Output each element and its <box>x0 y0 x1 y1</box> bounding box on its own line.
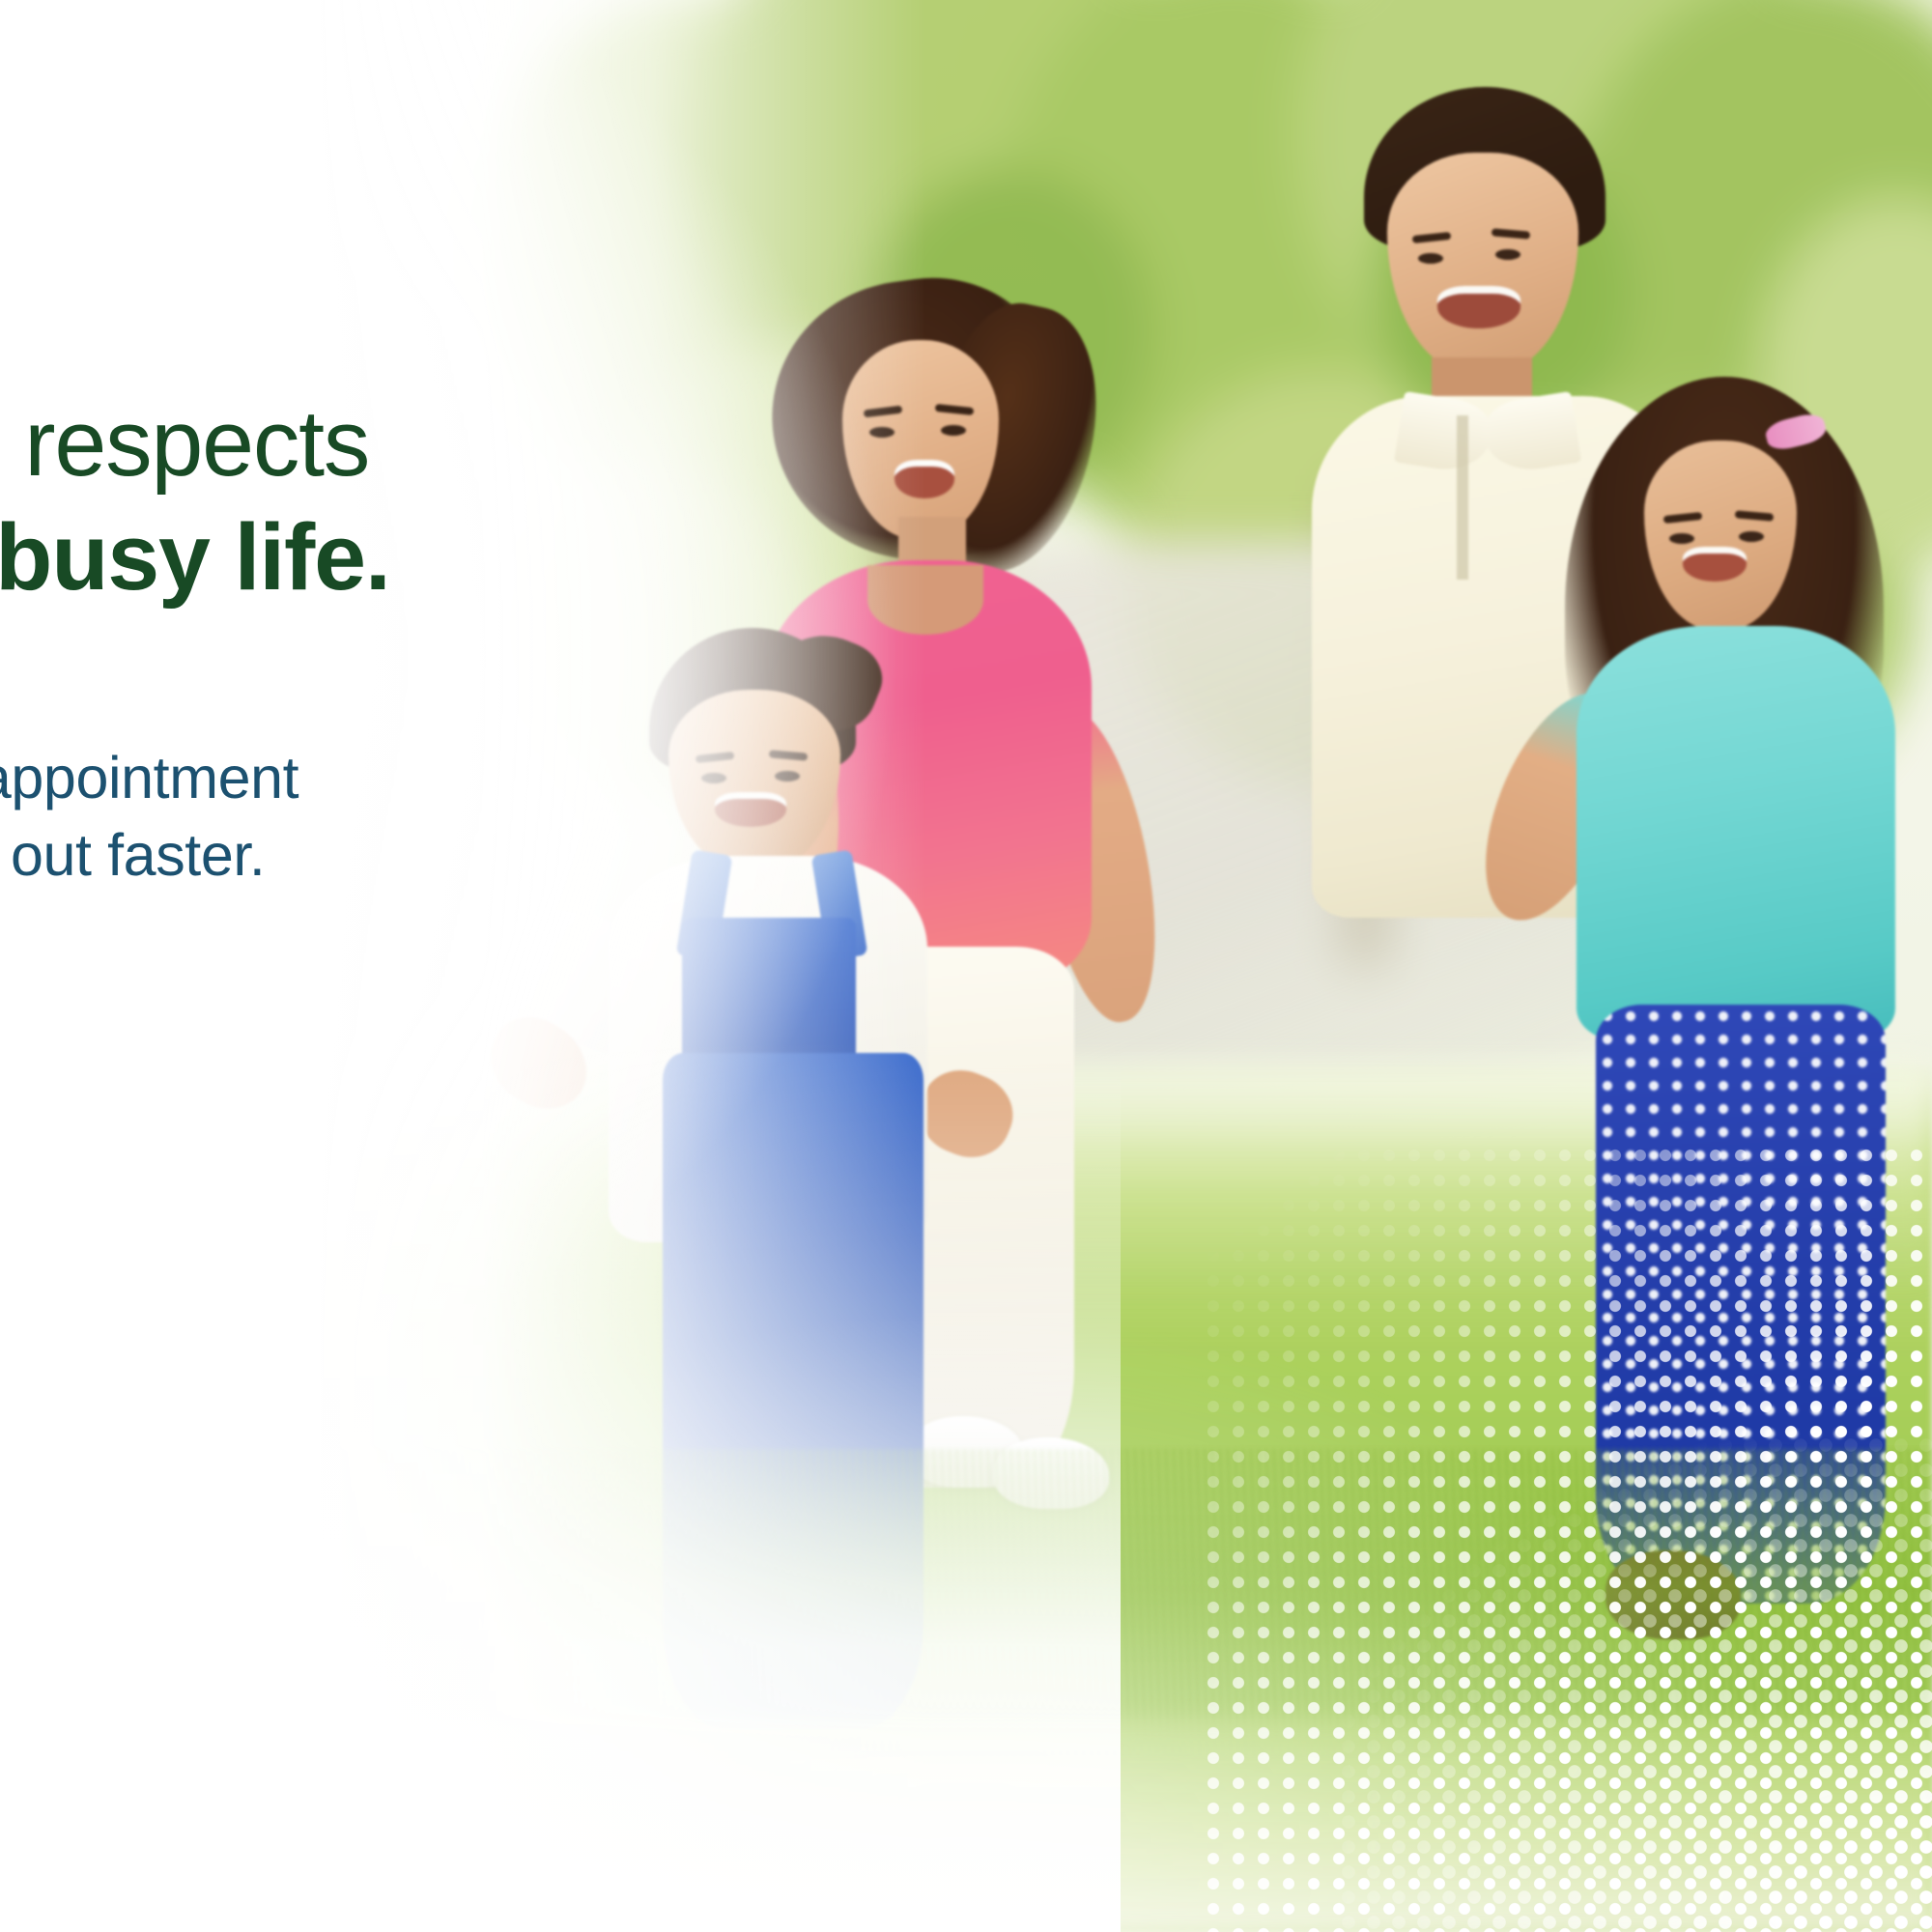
headline-line-1: b that respects <box>0 386 835 500</box>
hero-subcopy: dule an appointment et in and out faster… <box>0 615 835 895</box>
girl-mouth <box>1683 547 1747 582</box>
father-mouth <box>1437 286 1520 328</box>
father-face <box>1387 153 1578 373</box>
hero-headline: b that respects your busy life. <box>0 386 835 615</box>
father-shirt-placket <box>1457 415 1468 580</box>
girl-tshirt <box>1577 626 1895 1041</box>
hero-photo <box>0 0 1932 1932</box>
hero-copy-block: b that respects your busy life. dule an … <box>0 386 835 895</box>
subcopy-line-1: dule an appointment <box>0 739 835 817</box>
mother-mouth <box>895 460 954 498</box>
hero-banner: b that respects your busy life. dule an … <box>0 0 1932 1932</box>
grass-texture <box>0 1449 1932 1758</box>
headline-line-2: your busy life. <box>0 500 835 614</box>
grass-foreground <box>0 1719 1932 1932</box>
mother-neckline <box>867 565 983 635</box>
subcopy-line-2: et in and out faster. <box>0 816 835 895</box>
